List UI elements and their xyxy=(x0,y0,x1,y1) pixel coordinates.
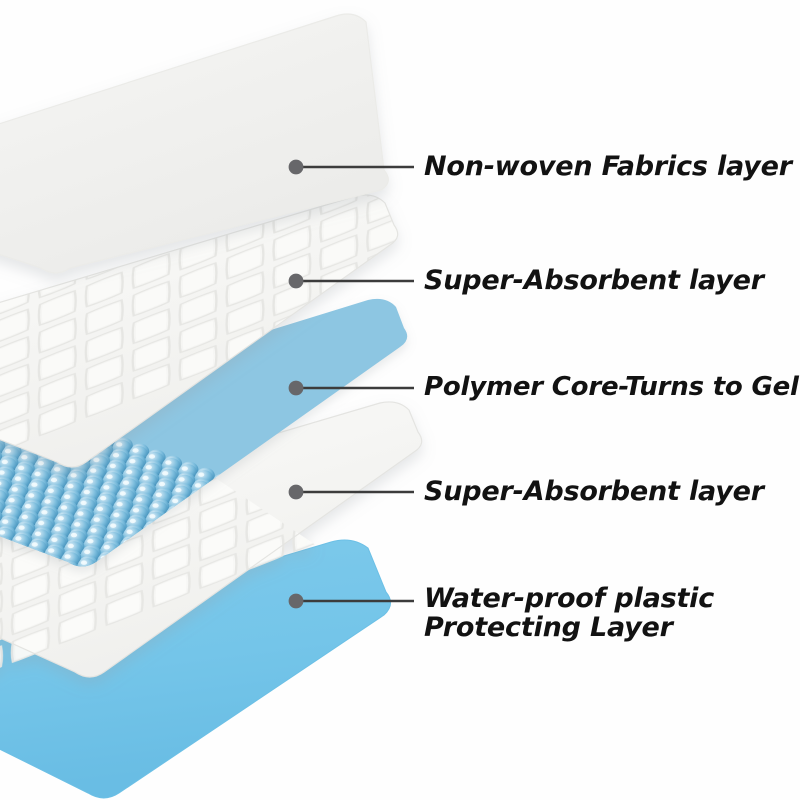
callout-label-super-absorbent-bottom: Super-Absorbent layer xyxy=(424,477,764,506)
callout-dot xyxy=(289,160,304,175)
callout-label-polymer-core: Polymer Core-Turns to Gel xyxy=(424,373,799,401)
layer-diagram-canvas: Non-woven Fabrics layer Super-Absorbent … xyxy=(0,0,800,800)
callout-dot xyxy=(289,485,304,500)
callout-label-super-absorbent-top: Super-Absorbent layer xyxy=(424,266,764,295)
callout-label-non-woven-fabrics: Non-woven Fabrics layer xyxy=(424,152,792,181)
callout-label-waterproof-plastic: Water-proof plastic Protecting Layer xyxy=(424,584,714,642)
callout-dot xyxy=(289,381,304,396)
callout-dot xyxy=(289,594,304,609)
callout-dot xyxy=(289,274,304,289)
